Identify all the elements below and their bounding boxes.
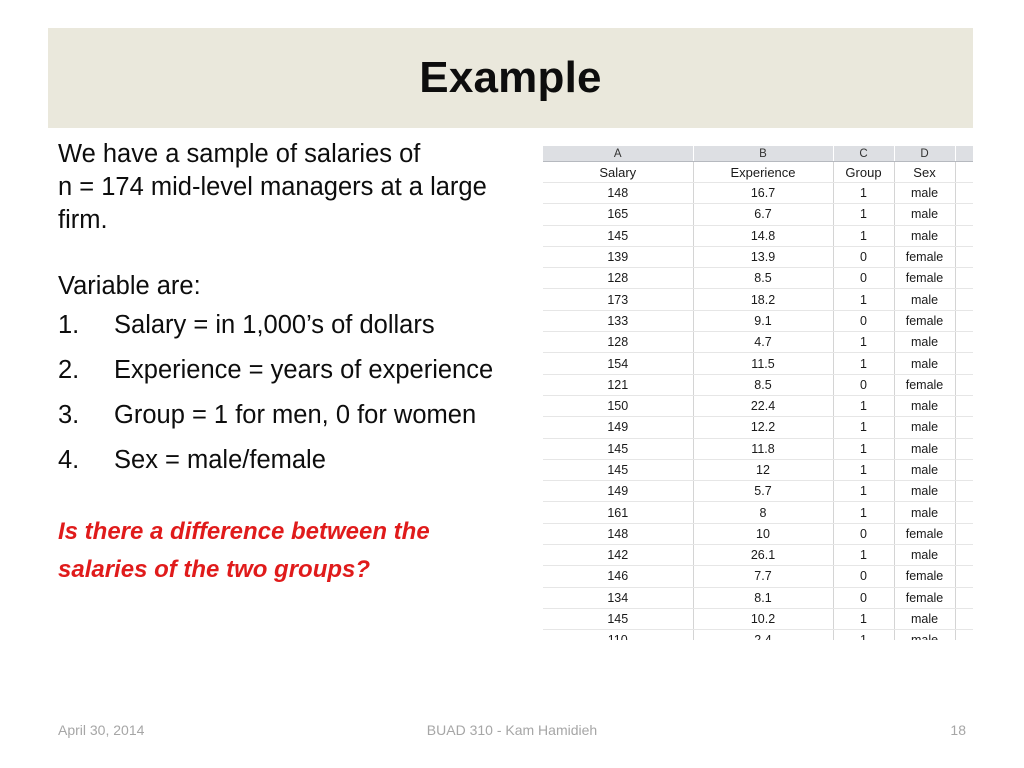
table-cell: female xyxy=(894,523,955,544)
list-item: 3. Group = 1 for men, 0 for women xyxy=(58,393,548,438)
table-cell: male xyxy=(894,502,955,523)
list-item-number: 2. xyxy=(58,348,114,393)
table-row: 148100female xyxy=(543,523,973,544)
table-row: 14511.81male xyxy=(543,438,973,459)
table-cell: 12.2 xyxy=(693,417,833,438)
table-cell xyxy=(955,289,973,310)
list-item-label: Group = 1 for men, 0 for women xyxy=(114,393,548,438)
list-item-number: 1. xyxy=(58,303,114,348)
table-cell xyxy=(955,204,973,225)
list-item: 2. Experience = years of experience xyxy=(58,348,548,393)
intro-line: We have a sample of salaries of xyxy=(58,138,548,171)
table-cell: 148 xyxy=(543,523,693,544)
table-cell: 128 xyxy=(543,268,693,289)
table-cell xyxy=(955,587,973,608)
variables-heading: Variable are: xyxy=(58,270,548,303)
list-item: 1. Salary = in 1,000’s of dollars xyxy=(58,303,548,348)
table-cell: 9.1 xyxy=(693,310,833,331)
table-cell: 6.7 xyxy=(693,204,833,225)
table-cell: 1 xyxy=(833,459,894,480)
table-cell: 133 xyxy=(543,310,693,331)
table-cell: 173 xyxy=(543,289,693,310)
table-cell: 145 xyxy=(543,459,693,480)
column-header-cell: Experience xyxy=(693,162,833,183)
table-cell: 121 xyxy=(543,374,693,395)
table-cell: female xyxy=(894,310,955,331)
table-cell: 134 xyxy=(543,587,693,608)
column-letter-header[interactable]: D xyxy=(894,146,955,162)
table-cell: 8.5 xyxy=(693,268,833,289)
list-item-number: 3. xyxy=(58,393,114,438)
intro-line: n = 174 mid-level managers at a large xyxy=(58,171,548,204)
table-row: 15411.51male xyxy=(543,353,973,374)
table-cell: 10 xyxy=(693,523,833,544)
table-row: 1288.50female xyxy=(543,268,973,289)
table-cell: 1 xyxy=(833,332,894,353)
table-row: 13913.90female xyxy=(543,246,973,267)
table-row: 14514.81male xyxy=(543,225,973,246)
table-cell: 1 xyxy=(833,225,894,246)
table-cell: 10.2 xyxy=(693,608,833,629)
table-cell: 1 xyxy=(833,630,894,640)
table-cell xyxy=(955,523,973,544)
question-callout: Is there a difference between the salari… xyxy=(58,513,548,589)
table-cell xyxy=(955,225,973,246)
table-cell: 0 xyxy=(833,566,894,587)
table-cell: male xyxy=(894,481,955,502)
table-cell: 1 xyxy=(833,353,894,374)
table-cell: female xyxy=(894,268,955,289)
table-cell xyxy=(955,310,973,331)
question-line: salaries of the two groups? xyxy=(58,551,548,589)
table-cell: 7.7 xyxy=(693,566,833,587)
table-cell: 1 xyxy=(833,204,894,225)
table-cell: 142 xyxy=(543,545,693,566)
table-cell: male xyxy=(894,353,955,374)
table-row: 14226.11male xyxy=(543,545,973,566)
table-cell: 8.5 xyxy=(693,374,833,395)
footer-page-number: 18 xyxy=(666,722,966,738)
column-header-cell: Sex xyxy=(894,162,955,183)
table-cell xyxy=(955,374,973,395)
table-cell: male xyxy=(894,545,955,566)
list-item-label: Salary = in 1,000’s of dollars xyxy=(114,303,548,348)
footer-course: BUAD 310 - Kam Hamidieh xyxy=(358,722,666,738)
column-letter-header[interactable]: C xyxy=(833,146,894,162)
table-cell: 145 xyxy=(543,225,693,246)
table-cell: male xyxy=(894,395,955,416)
table-cell: 16.7 xyxy=(693,183,833,204)
table-cell: female xyxy=(894,246,955,267)
table-cell: 22.4 xyxy=(693,395,833,416)
table-cell: female xyxy=(894,374,955,395)
table-cell: 150 xyxy=(543,395,693,416)
table-cell: 0 xyxy=(833,246,894,267)
data-table: ABCDSalaryExperienceGroupSex14816.71male… xyxy=(543,146,973,640)
table-cell: 165 xyxy=(543,204,693,225)
table-cell: male xyxy=(894,608,955,629)
table-cell xyxy=(955,459,973,480)
table-cell: 13.9 xyxy=(693,246,833,267)
table-cell xyxy=(955,246,973,267)
table-cell: male xyxy=(894,225,955,246)
variables-list: 1. Salary = in 1,000’s of dollars 2. Exp… xyxy=(58,303,548,483)
table-row: 1348.10female xyxy=(543,587,973,608)
table-row: 1284.71male xyxy=(543,332,973,353)
table-cell: male xyxy=(894,183,955,204)
table-cell xyxy=(955,395,973,416)
table-cell xyxy=(955,183,973,204)
table-cell: 8.1 xyxy=(693,587,833,608)
table-row: 16181male xyxy=(543,502,973,523)
table-cell: 1 xyxy=(833,438,894,459)
table-cell xyxy=(955,353,973,374)
content-left-column: We have a sample of salaries of n = 174 … xyxy=(58,138,548,589)
table-cell: female xyxy=(894,566,955,587)
table-cell xyxy=(955,630,973,640)
table-cell: 0 xyxy=(833,268,894,289)
list-item-label: Experience = years of experience xyxy=(114,348,548,393)
table-cell: 0 xyxy=(833,374,894,395)
table-cell: 146 xyxy=(543,566,693,587)
table-row: 14912.21male xyxy=(543,417,973,438)
table-cell: 1 xyxy=(833,395,894,416)
table-cell: 11.5 xyxy=(693,353,833,374)
table-cell: 4.7 xyxy=(693,332,833,353)
table-cell xyxy=(955,438,973,459)
table-cell: 5.7 xyxy=(693,481,833,502)
table-cell: 149 xyxy=(543,481,693,502)
table-cell: male xyxy=(894,417,955,438)
table-row: 14510.21male xyxy=(543,608,973,629)
column-letter-header[interactable] xyxy=(955,146,973,162)
table-cell: 1 xyxy=(833,608,894,629)
table-cell: male xyxy=(894,332,955,353)
intro-paragraph: We have a sample of salaries of n = 174 … xyxy=(58,138,548,237)
table-cell xyxy=(955,545,973,566)
table-cell: 26.1 xyxy=(693,545,833,566)
table-cell: 12 xyxy=(693,459,833,480)
table-cell xyxy=(955,332,973,353)
table-cell: male xyxy=(894,438,955,459)
table-cell: 11.8 xyxy=(693,438,833,459)
table-cell: male xyxy=(894,459,955,480)
table-cell: 145 xyxy=(543,608,693,629)
table-cell: 1 xyxy=(833,481,894,502)
table-row: 145121male xyxy=(543,459,973,480)
table-row: 1495.71male xyxy=(543,481,973,502)
table-cell: male xyxy=(894,630,955,640)
question-line: Is there a difference between the xyxy=(58,513,548,551)
table-row: 14816.71male xyxy=(543,183,973,204)
table-cell: 1 xyxy=(833,417,894,438)
table-cell: 0 xyxy=(833,523,894,544)
table-row: 15022.41male xyxy=(543,395,973,416)
table-cell xyxy=(955,502,973,523)
list-item: 4. Sex = male/female xyxy=(58,438,548,483)
column-header-cell: Group xyxy=(833,162,894,183)
list-item-label: Sex = male/female xyxy=(114,438,548,483)
table-header-row: SalaryExperienceGroupSex xyxy=(543,162,973,183)
table-cell: male xyxy=(894,289,955,310)
table-cell xyxy=(955,268,973,289)
spreadsheet-table: ABCDSalaryExperienceGroupSex14816.71male… xyxy=(543,146,973,640)
table-cell xyxy=(955,417,973,438)
table-cell: 8 xyxy=(693,502,833,523)
table-row: 1467.70female xyxy=(543,566,973,587)
page-title: Example xyxy=(419,56,601,100)
table-cell: 161 xyxy=(543,502,693,523)
table-cell: 1 xyxy=(833,545,894,566)
table-cell: 1 xyxy=(833,502,894,523)
table-row: 1656.71male xyxy=(543,204,973,225)
table-cell: 145 xyxy=(543,438,693,459)
table-cell: 0 xyxy=(833,587,894,608)
table-cell: 139 xyxy=(543,246,693,267)
table-cell: 1 xyxy=(833,183,894,204)
column-header-cell: Salary xyxy=(543,162,693,183)
column-letter-header[interactable]: A xyxy=(543,146,693,162)
table-cell: 148 xyxy=(543,183,693,204)
list-item-number: 4. xyxy=(58,438,114,483)
column-letter-row: ABCD xyxy=(543,146,973,162)
table-cell: 14.8 xyxy=(693,225,833,246)
paragraph-spacer xyxy=(58,237,548,270)
table-row: 1102.41male xyxy=(543,630,973,640)
column-header-cell xyxy=(955,162,973,183)
table-cell: 110 xyxy=(543,630,693,640)
table-cell xyxy=(955,481,973,502)
table-row: 17318.21male xyxy=(543,289,973,310)
table-cell: 154 xyxy=(543,353,693,374)
table-cell xyxy=(955,566,973,587)
table-cell: 0 xyxy=(833,310,894,331)
intro-line: firm. xyxy=(58,204,548,237)
table-cell: male xyxy=(894,204,955,225)
table-cell xyxy=(955,608,973,629)
table-cell: 149 xyxy=(543,417,693,438)
footer-date: April 30, 2014 xyxy=(58,722,358,738)
column-letter-header[interactable]: B xyxy=(693,146,833,162)
table-cell: female xyxy=(894,587,955,608)
table-row: 1218.50female xyxy=(543,374,973,395)
table-row: 1339.10female xyxy=(543,310,973,331)
table-cell: 18.2 xyxy=(693,289,833,310)
footer: April 30, 2014 BUAD 310 - Kam Hamidieh 1… xyxy=(58,722,966,738)
table-cell: 2.4 xyxy=(693,630,833,640)
table-cell: 128 xyxy=(543,332,693,353)
table-cell: 1 xyxy=(833,289,894,310)
title-banner: Example xyxy=(48,28,973,128)
